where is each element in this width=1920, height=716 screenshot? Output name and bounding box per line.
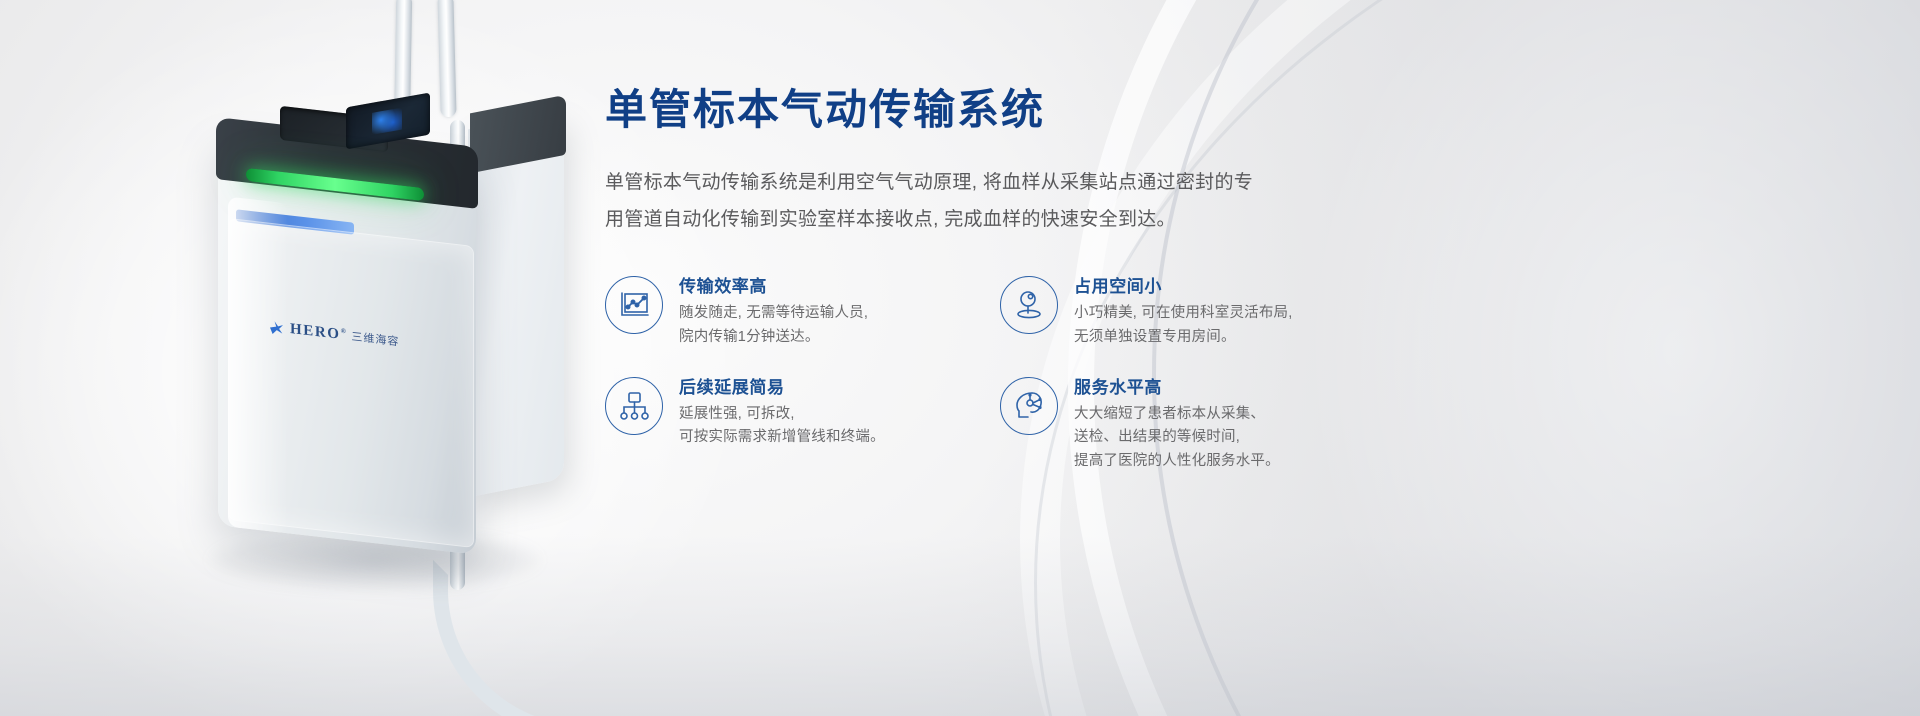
feature-item: 占用空间小 小巧精美, 可在使用科室灵活布局, 无须单独设置专用房间。 bbox=[1000, 274, 1395, 349]
space-pin-icon bbox=[1000, 276, 1058, 334]
product-hero-banner: HERO® 三维海容 单管标本气动传输系统 单管标本气动传输系统是利用空气气动原… bbox=[0, 0, 1920, 716]
feature-title: 服务水平高 bbox=[1074, 376, 1280, 400]
brand-registered-icon: ® bbox=[341, 326, 348, 335]
feature-text-block: 传输效率高 随发随走, 无需等待运输人员, 院内传输1分钟送达。 bbox=[679, 274, 868, 349]
feature-grid: 传输效率高 随发随走, 无需等待运输人员, 院内传输1分钟送达。 占用空间小 小… bbox=[605, 274, 1465, 473]
feature-item: 后续延展简易 延展性强, 可拆改, 可按实际需求新增管线和终端。 bbox=[605, 375, 1000, 473]
banner-content: 单管标本气动传输系统 单管标本气动传输系统是利用空气气动原理, 将血样从采集站点… bbox=[605, 86, 1465, 473]
feature-title: 传输效率高 bbox=[679, 275, 868, 299]
chart-line-icon bbox=[605, 276, 663, 334]
network-tree-icon bbox=[605, 377, 663, 435]
screen-logo-icon bbox=[372, 108, 402, 135]
feature-description: 随发随走, 无需等待运输人员, 院内传输1分钟送达。 bbox=[679, 302, 868, 349]
page-title: 单管标本气动传输系统 bbox=[605, 86, 1465, 134]
device-highlight-gradient bbox=[228, 197, 288, 534]
product-image: HERO® 三维海容 bbox=[150, 0, 620, 716]
intro-paragraph: 单管标本气动传输系统是利用空气气动原理, 将血样从采集站点通过密封的专用管道自动… bbox=[605, 164, 1255, 238]
pneumatic-tube-right bbox=[437, 0, 456, 117]
feature-title: 占用空间小 bbox=[1074, 275, 1292, 299]
feature-item: 服务水平高 大大缩短了患者标本从采集、 送检、出结果的等候时间, 提高了医院的人… bbox=[1000, 375, 1395, 473]
smart-head-icon bbox=[1000, 377, 1058, 435]
feature-title: 后续延展简易 bbox=[679, 376, 885, 400]
hero-flame-icon bbox=[268, 318, 286, 338]
feature-text-block: 后续延展简易 延展性强, 可拆改, 可按实际需求新增管线和终端。 bbox=[679, 375, 885, 450]
feature-item: 传输效率高 随发随走, 无需等待运输人员, 院内传输1分钟送达。 bbox=[605, 274, 1000, 349]
feature-text-block: 占用空间小 小巧精美, 可在使用科室灵活布局, 无须单独设置专用房间。 bbox=[1074, 274, 1292, 349]
feature-description: 小巧精美, 可在使用科室灵活布局, 无须单独设置专用房间。 bbox=[1074, 302, 1292, 349]
feature-description: 延展性强, 可拆改, 可按实际需求新增管线和终端。 bbox=[679, 403, 885, 450]
feature-text-block: 服务水平高 大大缩短了患者标本从采集、 送检、出结果的等候时间, 提高了医院的人… bbox=[1074, 375, 1280, 473]
feature-description: 大大缩短了患者标本从采集、 送检、出结果的等候时间, 提高了医院的人性化服务水平… bbox=[1074, 403, 1280, 473]
